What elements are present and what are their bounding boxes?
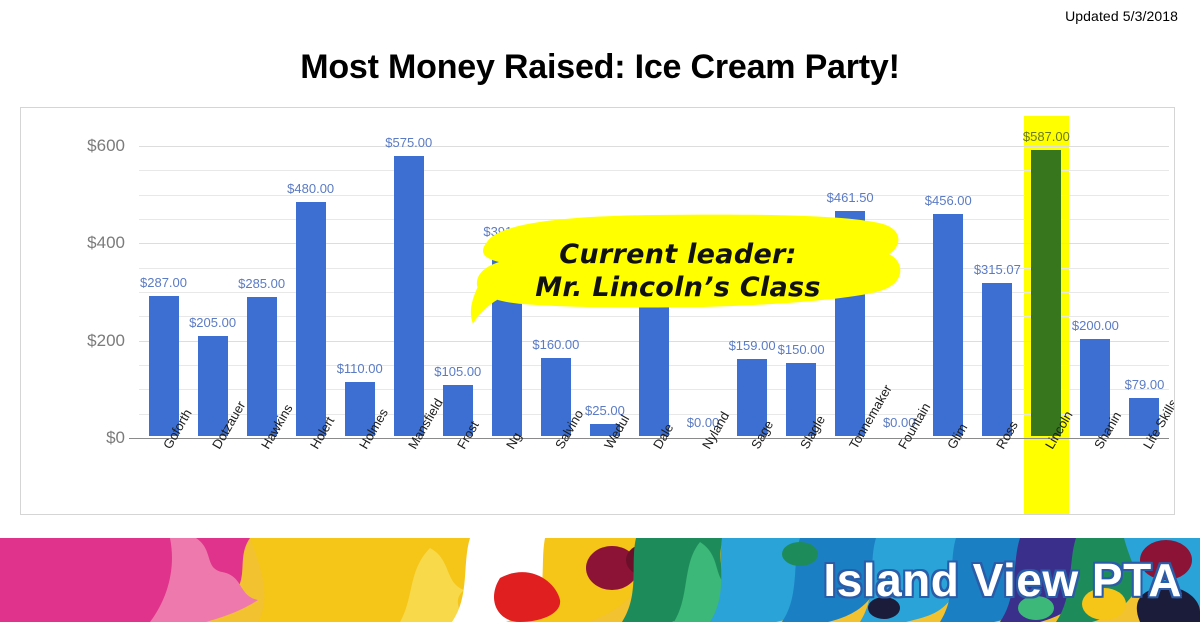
bar-column[interactable]: $461.50 <box>826 107 875 436</box>
bar-column[interactable]: $110.00 <box>335 107 384 436</box>
page-title: Most Money Raised: Ice Cream Party! <box>0 48 1200 87</box>
bar-value-label: $456.00 <box>925 193 972 208</box>
bar-column[interactable]: $0.00 <box>679 107 728 436</box>
bar-column[interactable]: $160.00 <box>531 107 580 436</box>
bar[interactable] <box>835 211 865 436</box>
bar-value-label: $587.00 <box>1023 129 1070 144</box>
bar-value-label: $315.07 <box>974 262 1021 277</box>
bar-column[interactable]: $285.00 <box>237 107 286 436</box>
bar-column[interactable]: $480.00 <box>286 107 335 436</box>
bar[interactable] <box>296 202 326 436</box>
bar[interactable] <box>982 283 1012 436</box>
bar-value-label: $159.00 <box>729 338 776 353</box>
bar-value-label: $150.00 <box>778 342 825 357</box>
bar-value-label: $105.00 <box>434 364 481 379</box>
bar-column[interactable]: $79.00 <box>1120 107 1169 436</box>
bar-column[interactable]: $315.07 <box>973 107 1022 436</box>
bar-value-label: $480.00 <box>287 181 334 196</box>
bar-column[interactable]: $587.00 <box>1022 107 1071 436</box>
bar[interactable] <box>492 245 522 436</box>
bar-leader[interactable] <box>1031 150 1061 436</box>
bar-value-label: $285.00 <box>238 276 285 291</box>
bar-value-label: $575.00 <box>385 135 432 150</box>
bar-column[interactable]: $280.00 <box>629 107 678 436</box>
bar-column[interactable]: $575.00 <box>384 107 433 436</box>
bar[interactable] <box>639 300 669 436</box>
bar-value-label: $205.00 <box>189 315 236 330</box>
updated-timestamp: Updated 5/3/2018 <box>1065 8 1178 24</box>
bar-column[interactable]: $25.00 <box>580 107 629 436</box>
bar-value-label: $160.00 <box>532 337 579 352</box>
bar[interactable] <box>394 156 424 436</box>
bar-column[interactable]: $456.00 <box>924 107 973 436</box>
plot-area: $0$200$400$600 $287.00$205.00$285.00$480… <box>21 108 1174 514</box>
bar-value-label: $200.00 <box>1072 318 1119 333</box>
pta-footer-banner: Island View PTA <box>0 538 1200 622</box>
bar-value-label: $79.00 <box>1125 377 1165 392</box>
bar-value-label: $280.00 <box>630 279 677 294</box>
bar-value-label: $461.50 <box>827 190 874 205</box>
bar-column[interactable]: $391.75 <box>482 107 531 436</box>
bar-column[interactable]: $159.00 <box>728 107 777 436</box>
bar-column[interactable]: $105.00 <box>433 107 482 436</box>
bar-value-label: $391.75 <box>483 224 530 239</box>
bar-column[interactable]: $200.00 <box>1071 107 1120 436</box>
bar-column[interactable]: $287.00 <box>139 107 188 436</box>
footer-title: Island View PTA <box>823 553 1182 607</box>
bar-value-label: $110.00 <box>337 361 383 376</box>
bar-value-label: $287.00 <box>140 275 187 290</box>
bar[interactable] <box>933 214 963 436</box>
bar-column[interactable]: $150.00 <box>777 107 826 436</box>
bar-column[interactable]: $205.00 <box>188 107 237 436</box>
bar-chart: $0$200$400$600 $287.00$205.00$285.00$480… <box>20 107 1175 515</box>
bar-series: $287.00$205.00$285.00$480.00$110.00$575.… <box>21 108 1174 514</box>
bar[interactable] <box>149 296 179 436</box>
bar[interactable] <box>247 297 277 436</box>
